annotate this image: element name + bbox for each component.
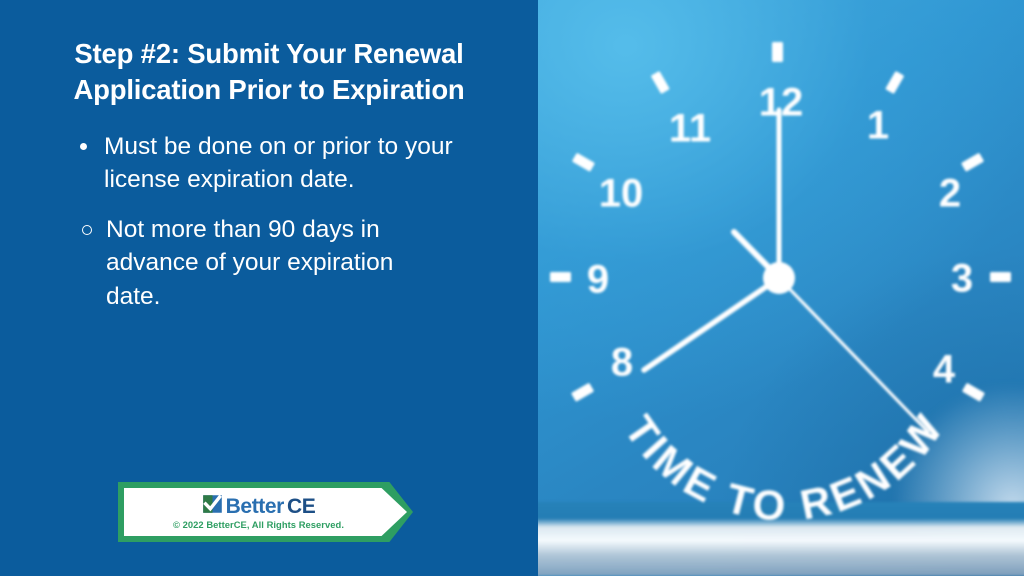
list-item: Not more than 90 days in advance of your…: [80, 213, 420, 313]
second-hand-right: [779, 278, 928, 432]
list-item: Must be done on or prior to your license…: [78, 130, 478, 197]
clock-number-10: 10: [599, 172, 644, 216]
bullet-list-level-2: Not more than 90 days in advance of your…: [80, 213, 508, 313]
brand-name-primary: Better: [226, 496, 284, 517]
logo-badge: Better CE © 2022 BetterCE, All Rights Re…: [118, 482, 413, 542]
clock-number-1: 1: [867, 104, 889, 148]
badge-green-frame: Better CE © 2022 BetterCE, All Rights Re…: [118, 482, 413, 542]
clock-arc-text: TIME TO RENEW: [616, 403, 954, 530]
second-hand-left: [644, 278, 779, 370]
clock-number-2: 2: [939, 172, 961, 216]
clock-center-cap: [763, 262, 795, 294]
clock-number-3: 3: [951, 257, 973, 301]
checkmark-icon: [202, 494, 223, 519]
clock-number-4: 4: [933, 348, 956, 392]
slide-root: Step #2: Submit Your Renewal Application…: [0, 0, 1024, 576]
brand-name-secondary: CE: [287, 496, 315, 517]
left-content-panel: Step #2: Submit Your Renewal Application…: [0, 0, 538, 576]
brand-logo-row: Better CE: [202, 494, 316, 519]
clock-number-8: 8: [611, 341, 633, 385]
badge-white-inner: Better CE © 2022 BetterCE, All Rights Re…: [124, 488, 407, 536]
bullet-list-container: Must be done on or prior to your license…: [30, 130, 508, 314]
clock-number-9: 9: [587, 258, 609, 302]
clock-marks-group: 12 1 2 3 4 8 9 10 11 TIME TO RENEW: [550, 42, 1011, 530]
bullet-list-level-1: Must be done on or prior to your license…: [78, 130, 508, 197]
copyright-text: © 2022 BetterCE, All Rights Reserved.: [173, 520, 344, 529]
clock-face-graphic: 12 1 2 3 4 8 9 10 11 TIME TO RENEW: [538, 0, 1024, 576]
clock-photo-panel: 12 1 2 3 4 8 9 10 11 TIME TO RENEW: [538, 0, 1024, 576]
clock-hands: [644, 110, 928, 432]
clock-number-11: 11: [669, 107, 711, 151]
page-title: Step #2: Submit Your Renewal Application…: [30, 36, 508, 108]
